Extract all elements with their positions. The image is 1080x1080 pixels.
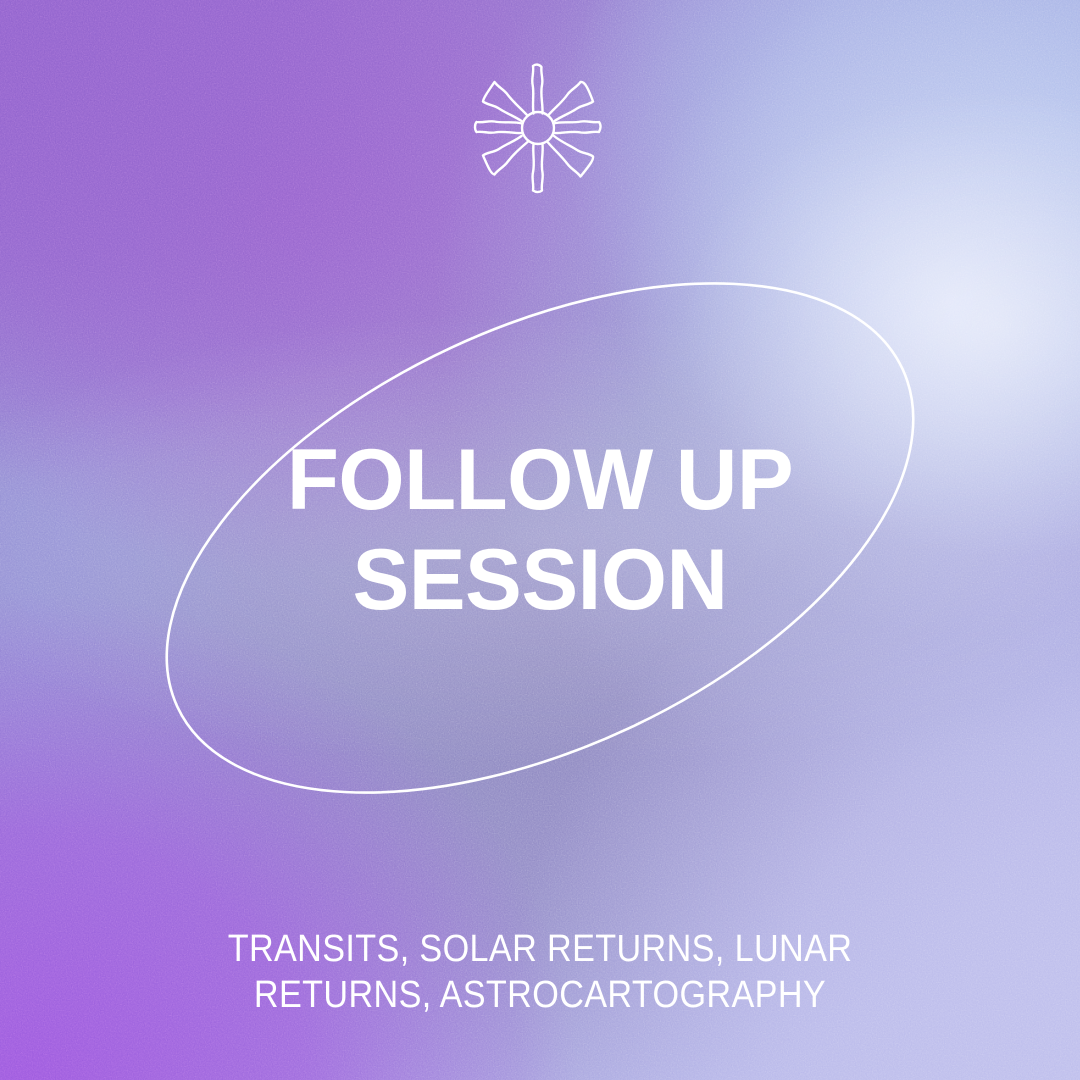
poster-canvas: FOLLOW UP SESSION TRANSITS, SOLAR RETURN… [0, 0, 1080, 1080]
subtitle-line-1: TRANSITS, SOLAR RETURNS, LUNAR [54, 926, 1026, 972]
sun-icon [470, 58, 606, 198]
page-title: FOLLOW UP SESSION [5, 430, 1074, 630]
subtitle: TRANSITS, SOLAR RETURNS, LUNAR RETURNS, … [54, 926, 1026, 1018]
subtitle-line-2: RETURNS, ASTROCARTOGRAPHY [54, 972, 1026, 1018]
headline-line-1: FOLLOW UP [5, 430, 1074, 530]
headline-line-2: SESSION [5, 530, 1074, 630]
